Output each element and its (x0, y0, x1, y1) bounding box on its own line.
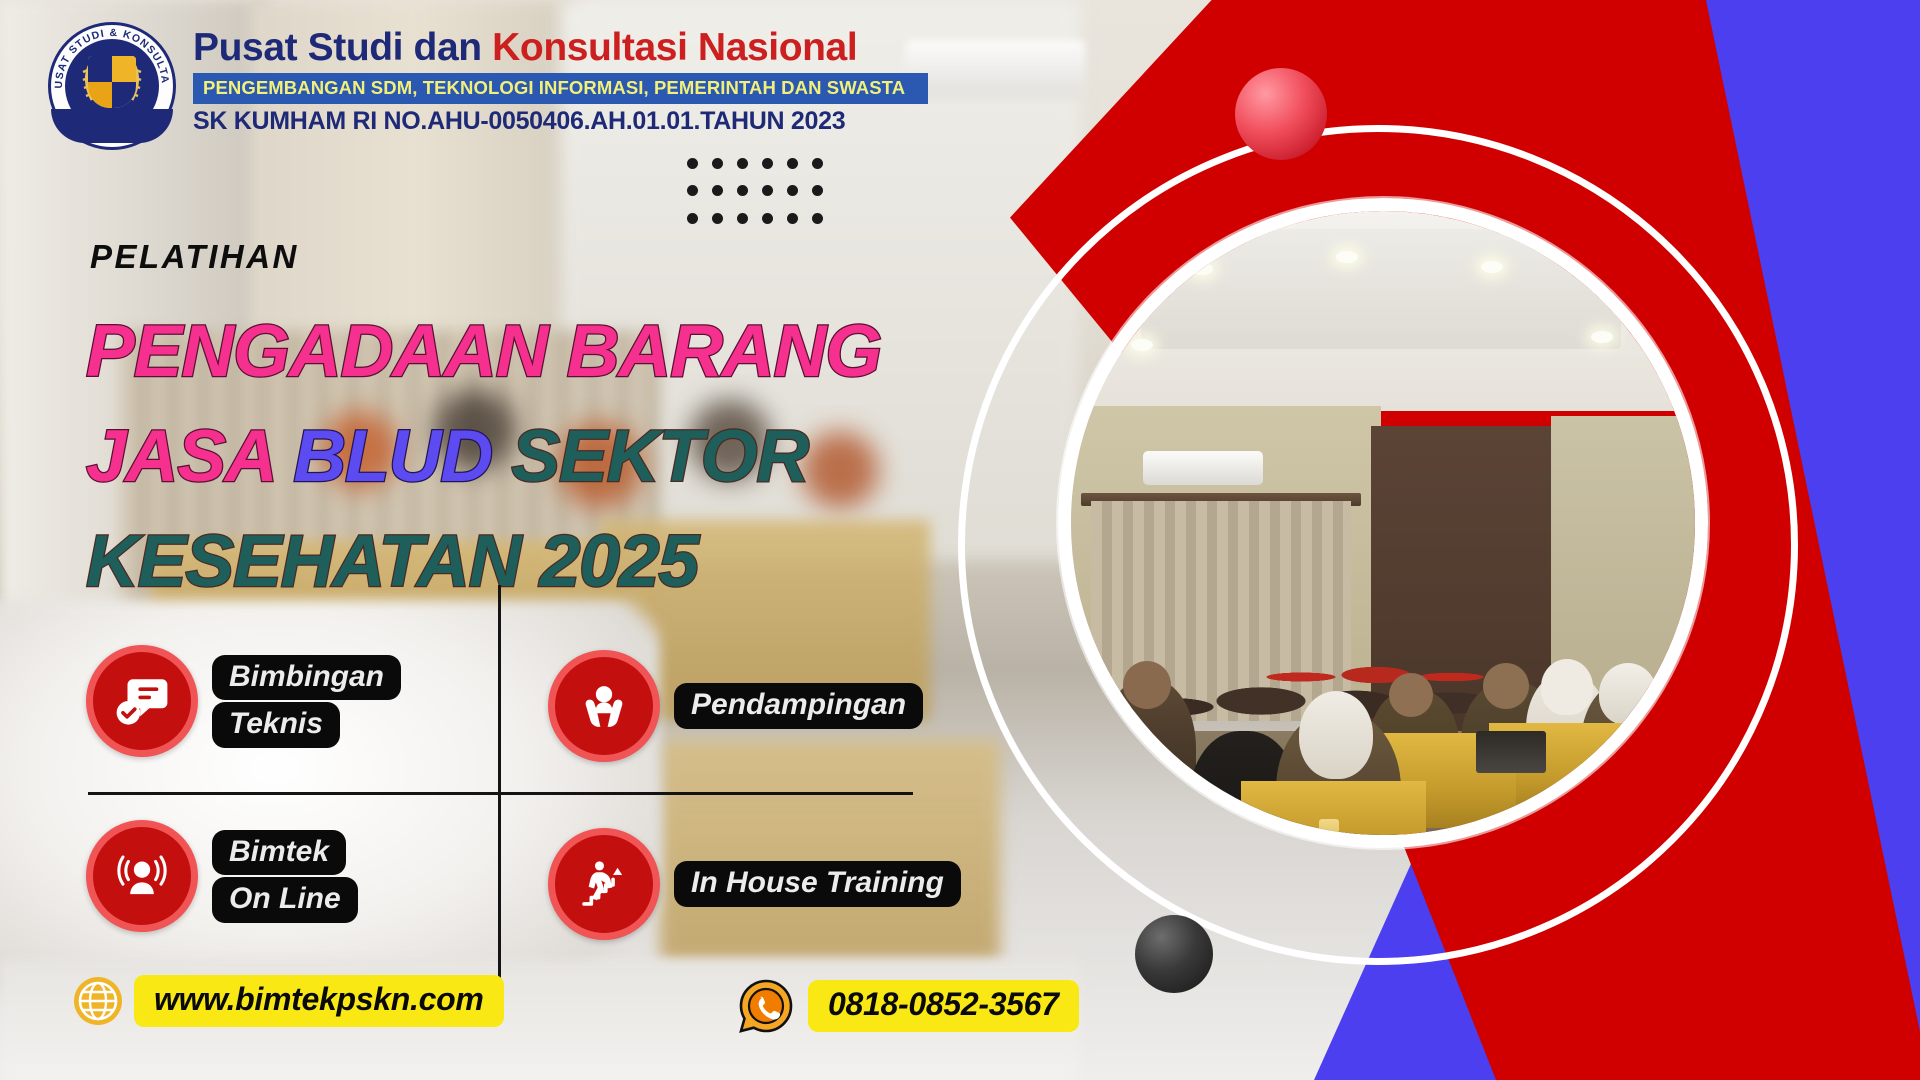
shield-icon (88, 56, 136, 108)
badge-label-line1: Bimtek (212, 830, 346, 876)
org-name-part1: Pusat Studi dan (193, 26, 492, 69)
event-photo (1058, 198, 1708, 848)
tagline-text: PENGEMBANGAN SDM, TEKNOLOGI INFORMASI, P… (203, 77, 905, 98)
org-name: Pusat Studi dan Konsultasi Nasional (193, 28, 953, 67)
title-line2-sektor: SEKTOR (511, 416, 808, 497)
title-line2-blud: BLUD (293, 416, 511, 497)
title-line3-text: KESEHATAN 2025 (86, 521, 698, 602)
title-kicker: PELATIHAN (90, 238, 299, 276)
website-url: www.bimtekpskn.com (134, 975, 504, 1027)
badge-label-line1: In House Training (674, 861, 961, 907)
service-badge-in-house-training[interactable]: In House Training (548, 828, 961, 940)
dot-grid-decoration (680, 150, 830, 232)
title-line-1: PENGADAAN BARANG (86, 310, 881, 393)
stairs-growth-icon (548, 828, 660, 940)
title-line1-text: PENGADAAN BARANG (86, 311, 881, 392)
whatsapp-contact[interactable]: 0818-0852-3567 (738, 978, 1079, 1034)
organization-logo: PUSAT STUDI & KONSULTASI NASIONAL (48, 22, 176, 150)
broadcast-person-icon (86, 820, 198, 932)
tagline-bar: PENGEMBANGAN SDM, TEKNOLOGI INFORMASI, P… (193, 73, 928, 104)
title-line-2: JASA BLUD SEKTOR (86, 415, 808, 498)
service-badge-bimbingan-teknis[interactable]: Bimbingan Teknis (86, 645, 401, 757)
service-badge-bimtek-online[interactable]: Bimtek On Line (86, 820, 358, 932)
hands-holding-person-icon (548, 650, 660, 762)
red-sphere (1235, 68, 1327, 160)
badge-label-line1: Pendampingan (674, 683, 923, 729)
whatsapp-icon (738, 978, 794, 1034)
badge-label-line1: Bimbingan (212, 655, 401, 701)
globe-icon (72, 975, 124, 1027)
badge-label-line2: Teknis (212, 702, 340, 748)
org-name-part2: Konsultasi Nasional (492, 26, 857, 69)
service-badge-pendampingan[interactable]: Pendampingan (548, 650, 923, 762)
chat-check-icon (86, 645, 198, 757)
phone-number: 0818-0852-3567 (808, 980, 1079, 1032)
vertical-divider (498, 585, 501, 990)
horizontal-divider (88, 792, 913, 795)
legal-registration: SK KUMHAM RI NO.AHU-0050406.AH.01.01.TAH… (193, 107, 953, 136)
header-text-block: Pusat Studi dan Konsultasi Nasional PENG… (193, 28, 953, 136)
black-sphere (1135, 915, 1213, 993)
badge-label-line2: On Line (212, 877, 358, 923)
title-line-3: KESEHATAN 2025 (86, 520, 698, 603)
title-line2-jasa: JASA (86, 416, 293, 497)
website-contact[interactable]: www.bimtekpskn.com (72, 975, 504, 1027)
